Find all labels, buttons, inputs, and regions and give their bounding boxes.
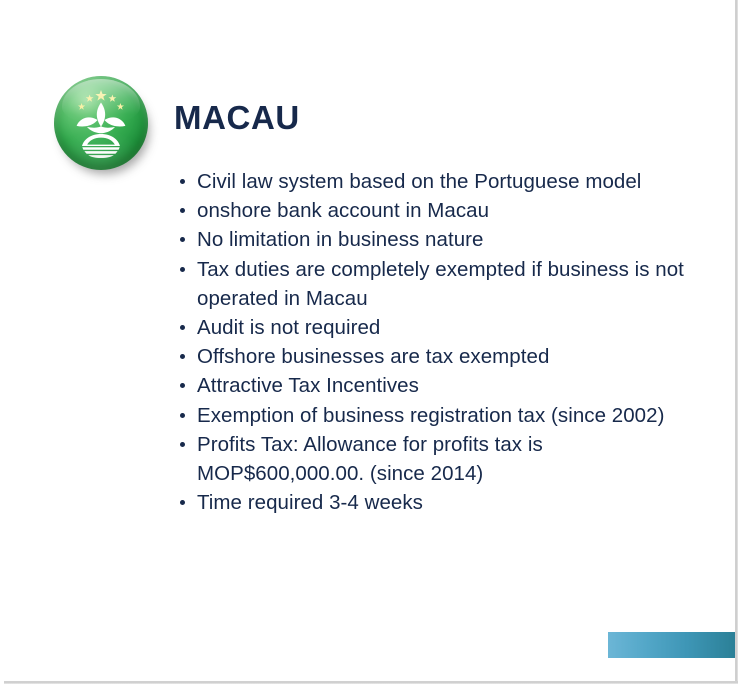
list-item: Exemption of business registration tax (…: [176, 401, 696, 430]
flag-sphere-body: [54, 76, 148, 170]
list-item: onshore bank account in Macau: [176, 196, 696, 225]
list-item: Tax duties are completely exempted if bu…: [176, 255, 696, 313]
bullet-dot-icon: [180, 237, 185, 242]
list-item: Attractive Tax Incentives: [176, 371, 696, 400]
accent-bar: [608, 632, 735, 658]
macau-lotus-emblem-icon: [75, 90, 127, 158]
list-item-label: Exemption of business registration tax (…: [197, 401, 696, 430]
bullet-dot-icon: [180, 354, 185, 359]
bullet-dot-icon: [180, 442, 185, 447]
bullet-dot-icon: [180, 413, 185, 418]
list-item: No limitation in business nature: [176, 225, 696, 254]
list-item-label: Civil law system based on the Portuguese…: [197, 167, 696, 196]
list-item-label: Audit is not required: [197, 313, 696, 342]
page-title: MACAU: [174, 101, 300, 134]
list-item-label: Tax duties are completely exempted if bu…: [197, 255, 696, 313]
list-item-label: Offshore businesses are tax exempted: [197, 342, 696, 371]
bullet-dot-icon: [180, 325, 185, 330]
list-item-label: No limitation in business nature: [197, 225, 696, 254]
page-edge-bottom: [4, 681, 738, 684]
slide-canvas: MACAU Civil law system based on the Port…: [0, 0, 742, 690]
page-edge-right: [735, 0, 738, 684]
list-item: Profits Tax: Allowance for profits tax i…: [176, 430, 696, 488]
bullet-dot-icon: [180, 267, 185, 272]
list-item-label: Time required 3-4 weeks: [197, 488, 696, 517]
feature-bullet-list: Civil law system based on the Portuguese…: [176, 167, 696, 517]
list-item: Time required 3-4 weeks: [176, 488, 696, 517]
bullet-dot-icon: [180, 208, 185, 213]
list-item: Offshore businesses are tax exempted: [176, 342, 696, 371]
list-item-label: Attractive Tax Incentives: [197, 371, 696, 400]
list-item-label: onshore bank account in Macau: [197, 196, 696, 225]
bullet-dot-icon: [180, 500, 185, 505]
macau-flag-sphere-icon: [54, 76, 150, 172]
list-item-label: Profits Tax: Allowance for profits tax i…: [197, 430, 696, 488]
bullet-dot-icon: [180, 179, 185, 184]
bullet-dot-icon: [180, 383, 185, 388]
list-item: Audit is not required: [176, 313, 696, 342]
list-item: Civil law system based on the Portuguese…: [176, 167, 696, 196]
